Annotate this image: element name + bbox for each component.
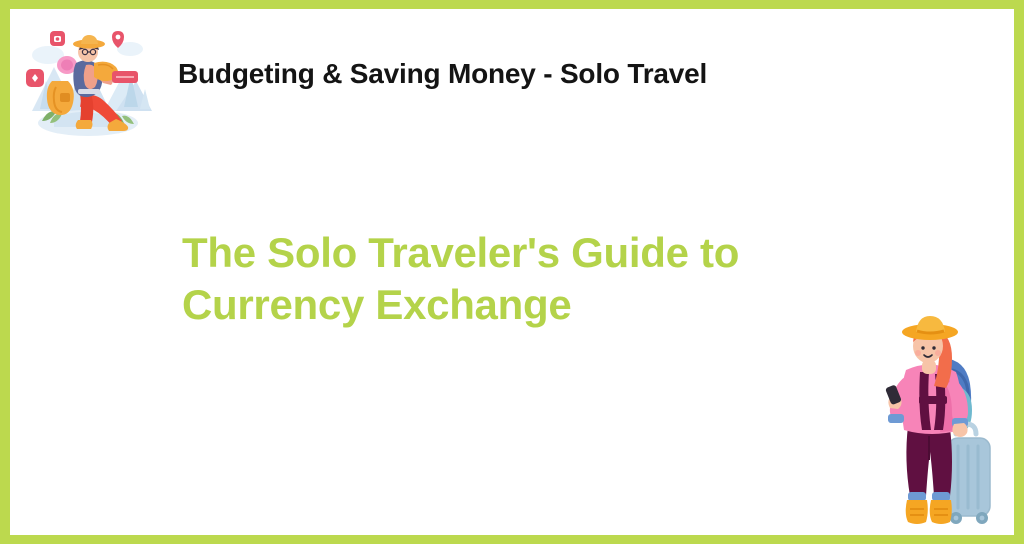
main-heading: The Solo Traveler's Guide to Currency Ex… [182, 227, 872, 331]
main-heading-line-2: Currency Exchange [182, 281, 571, 328]
article-banner: Budgeting & Saving Money - Solo Travel T… [0, 0, 1024, 544]
main-heading-line-1: The Solo Traveler's Guide to [182, 229, 739, 276]
female-traveler-with-suitcase-illustration [860, 310, 1010, 535]
backpacker-hiker-illustration [20, 15, 156, 143]
page-title: Budgeting & Saving Money - Solo Travel [178, 57, 878, 91]
banner-content: Budgeting & Saving Money - Solo Travel T… [10, 9, 1014, 535]
